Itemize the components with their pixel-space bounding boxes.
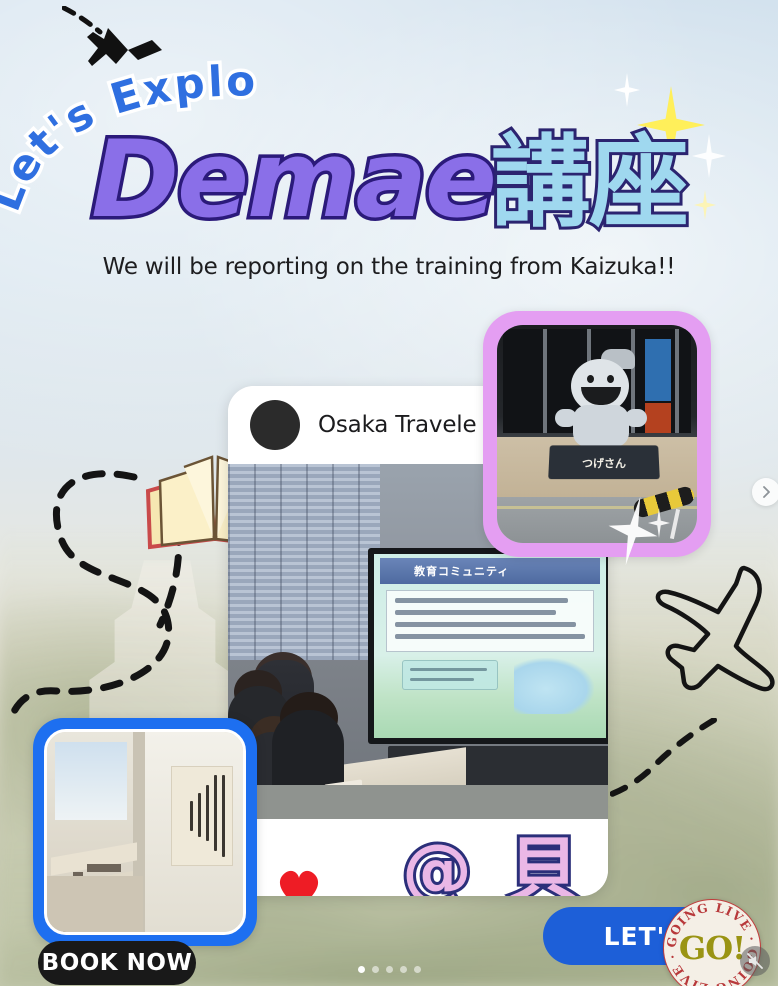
story-progress-dots[interactable] xyxy=(0,966,778,973)
slide-title: 教育コミュニティ xyxy=(380,558,600,579)
room-photo xyxy=(44,729,246,935)
location-sticker: @ 貝 塚 xyxy=(402,835,608,896)
dot-2[interactable] xyxy=(372,966,379,973)
heart-icon xyxy=(276,867,322,896)
avatar[interactable] xyxy=(250,400,300,450)
story-viewer: Let's Explore Demae 講座 We will be report… xyxy=(0,0,778,986)
dot-5[interactable] xyxy=(414,966,421,973)
wall-poster xyxy=(171,766,233,866)
dot-1[interactable] xyxy=(358,966,365,973)
mascot-name-sign: つげさん xyxy=(548,445,660,479)
slide-note xyxy=(402,660,498,690)
dot-4[interactable] xyxy=(400,966,407,973)
room-photo-frame[interactable] xyxy=(33,718,257,946)
mascot-photo-frame[interactable]: つげさん xyxy=(483,311,711,557)
chevron-right-icon xyxy=(760,486,772,498)
next-story-button[interactable] xyxy=(752,478,778,506)
mascot-photo: つげさん xyxy=(497,325,697,543)
book-now-button[interactable]: BOOK NOW xyxy=(38,941,196,985)
account-handle: Osaka Travele xyxy=(318,412,476,438)
card-footer: @ 貝 塚 xyxy=(228,819,608,896)
dot-3[interactable] xyxy=(386,966,393,973)
slide-body xyxy=(386,590,594,652)
mascot-sign-text: つげさん xyxy=(549,445,660,471)
